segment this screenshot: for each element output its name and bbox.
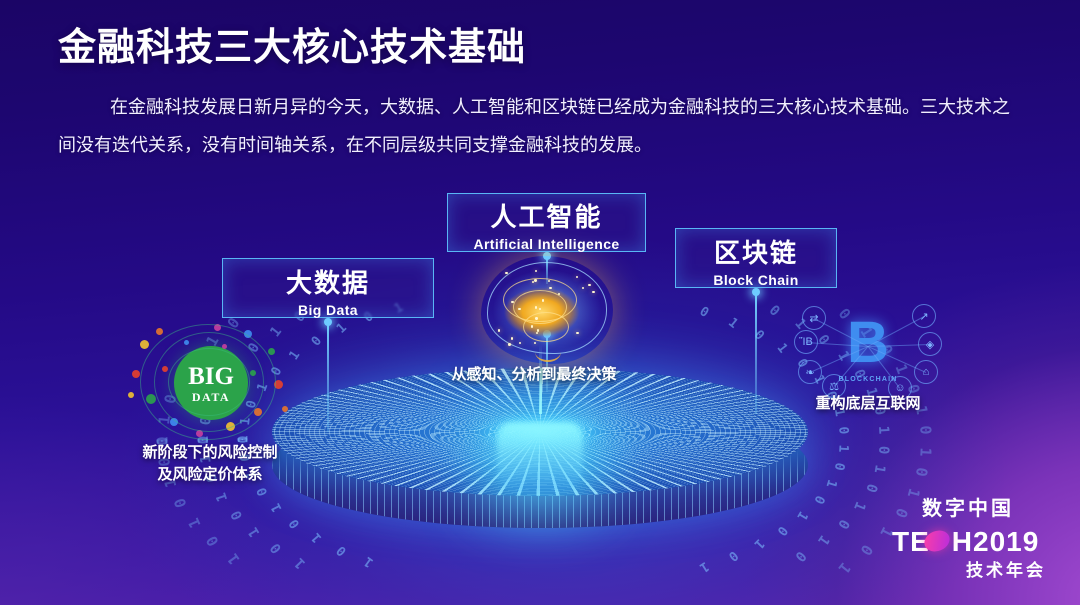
brain-neuron-dot: [535, 317, 537, 319]
binary-digit: 0: [810, 493, 827, 506]
binary-digit: 0: [834, 516, 852, 531]
binary-digit: 0: [917, 426, 935, 436]
brain-neuron-dot: [505, 272, 507, 274]
pillar-card-big-data[interactable]: 大数据 Big Data: [222, 258, 434, 318]
page-title: 金融科技三大核心技术基础: [58, 16, 526, 71]
connector-stem-block-chain: [755, 292, 757, 414]
binary-digit: 1: [184, 515, 204, 530]
central-platform-disc: [272, 368, 808, 548]
binary-digit: 0: [751, 327, 767, 343]
caption-artificial-intelligence: 从感知、分析到最终决策: [426, 364, 642, 386]
event-logo: 数字中国 TEH2019 技术年会: [884, 499, 1052, 579]
brain-neuron-dot: [531, 325, 533, 327]
binary-digit: 1: [333, 321, 349, 337]
binary-digit: 0: [697, 304, 712, 321]
caption-block-chain: 重构底层互联网: [768, 393, 968, 415]
pillar-card-title-en: Block Chain: [676, 273, 836, 287]
binary-digit: 1: [246, 524, 264, 540]
binary-digit: 1: [725, 315, 741, 332]
binary-digit: 0: [171, 496, 191, 510]
binary-digit: 0: [863, 482, 881, 494]
brain-neuron-dot: [534, 342, 536, 344]
binary-digit: 1: [823, 477, 840, 489]
big-data-graphic: BIG DATA: [126, 322, 290, 442]
binary-digit: 0: [228, 508, 246, 522]
binary-digit: 1: [223, 550, 243, 568]
brain-neuron-dot: [511, 301, 513, 303]
brain-fold: [523, 312, 569, 342]
pillar-card-title-cn: 人工智能: [448, 204, 645, 230]
binary-digit: 0: [792, 547, 810, 564]
pillar-card-title-cn: 区块链: [676, 240, 836, 266]
disc-core-glow: [497, 422, 583, 492]
connector-stem-big-data: [327, 322, 329, 432]
binary-digit: 0: [766, 302, 783, 319]
binary-digit: 0: [831, 461, 847, 471]
big-data-orbit-ring: [168, 348, 250, 416]
logo-line-annual-conference: 技术年会: [884, 562, 1052, 579]
pillar-card-title-en: Big Data: [223, 303, 433, 317]
binary-digit: 1: [904, 486, 924, 499]
logo-tech-suffix: H2019: [952, 526, 1040, 557]
brain-neuron-dot: [536, 332, 538, 334]
brain-neuron-dot: [508, 343, 510, 345]
pillar-card-title-en: Artificial Intelligence: [448, 237, 645, 251]
binary-digit: 0: [725, 548, 741, 565]
big-data-node-icon: [132, 370, 140, 378]
big-data-node-icon: [128, 392, 134, 398]
brain-neuron-dot: [498, 329, 500, 331]
binary-digit: 1: [875, 426, 891, 435]
logo-line-tech2019: TEH2019: [884, 528, 1052, 556]
binary-digit: 1: [697, 558, 712, 575]
pillar-card-artificial-intelligence[interactable]: 人工智能 Artificial Intelligence: [447, 193, 646, 252]
intro-paragraph: 在金融科技发展日新月异的今天，大数据、人工智能和区块链已经成为金融科技的三大核心…: [58, 88, 1026, 164]
binary-digit: 0: [836, 426, 851, 435]
binary-digit: 1: [774, 341, 791, 356]
binary-digit: 1: [292, 554, 309, 571]
brain-neuron-dot: [534, 279, 536, 281]
binary-digit: 0: [308, 334, 324, 350]
caption-line: 新阶段下的风险控制: [92, 442, 328, 464]
brain-stem: [535, 342, 561, 362]
binary-digit: 1: [815, 532, 833, 548]
brain-neuron-dot: [592, 291, 594, 293]
caption-line: 从感知、分析到最终决策: [426, 364, 642, 386]
binary-digit: 1: [836, 444, 851, 453]
brain-neuron-dot: [588, 284, 590, 286]
caption-big-data: 新阶段下的风险控制 及风险定价体系: [92, 442, 328, 486]
brain-neuron-dot: [542, 299, 544, 301]
brain-icon: [481, 256, 613, 364]
presentation-slide: 0101010101010101010101010101101010101101…: [0, 0, 1080, 605]
binary-digit: 0: [875, 445, 891, 454]
binary-digit: 1: [834, 558, 854, 576]
big-data-node-icon: [268, 348, 275, 355]
pillar-card-title-cn: 大数据: [223, 270, 433, 296]
big-data-node-icon: [156, 328, 163, 335]
binary-digit: 1: [871, 463, 888, 474]
binary-digit: 1: [850, 499, 868, 513]
logo-line-digital-china: 数字中国: [884, 499, 1052, 519]
caption-line: 重构底层互联网: [768, 393, 968, 415]
binary-digit: 0: [202, 533, 222, 550]
binary-digit: 0: [857, 542, 877, 559]
big-data-node-icon: [140, 340, 149, 349]
binary-digit: 1: [361, 553, 376, 570]
pillar-card-block-chain[interactable]: 区块链 Block Chain: [675, 228, 837, 288]
big-data-node-icon: [282, 406, 288, 412]
brain-neuron-dot: [511, 337, 513, 339]
brain-neuron-dot: [549, 287, 551, 289]
binary-digit: 1: [214, 491, 232, 504]
blockchain-graphic: B BLOCKCHAIN ⇄↗ἽB◈❧⌂⚖☺: [792, 304, 944, 402]
binary-digit: 0: [912, 467, 931, 479]
binary-digit: 0: [254, 485, 271, 498]
brain-neuron-dot: [537, 329, 539, 331]
caption-line: 及风险定价体系: [92, 464, 328, 486]
binary-digit: 1: [917, 447, 935, 457]
